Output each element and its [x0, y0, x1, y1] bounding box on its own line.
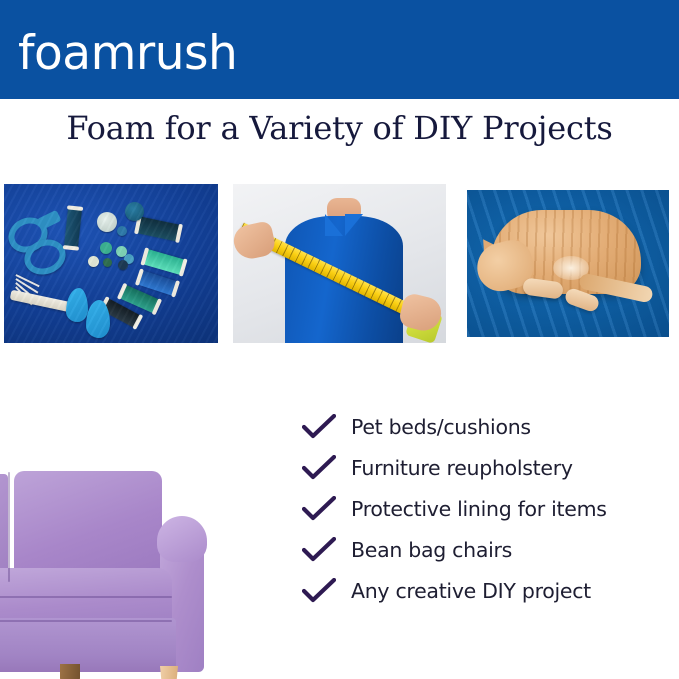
sofa-illustration: [0, 450, 254, 679]
benefit-item: Bean bag chairs: [302, 529, 672, 570]
page-title: Foam for a Variety of DIY Projects: [0, 105, 679, 151]
button: [125, 202, 144, 221]
person-hand-left: [233, 220, 277, 262]
scissors-ring-icon: [19, 234, 70, 280]
button-large: [97, 212, 117, 232]
shirt-collar-right: [345, 214, 363, 236]
check-icon: [302, 578, 336, 604]
benefit-label: Bean bag chairs: [336, 537, 512, 563]
check-icon: [302, 496, 336, 522]
cat-on-cushion-photo: [461, 184, 675, 343]
button-small: [100, 242, 112, 254]
product-feature-infographic: foamrush Foam for a Variety of DIY Proje…: [0, 0, 679, 679]
button-small: [116, 246, 127, 257]
straight-pin: [16, 282, 35, 299]
photo-strip: [4, 184, 675, 343]
benefit-item: Protective lining for items: [302, 488, 672, 529]
sewing-supplies-photo: [4, 184, 218, 343]
tape-measure-photo: [233, 184, 447, 343]
button-small: [118, 260, 128, 270]
benefit-label: Furniture reupholstery: [336, 455, 573, 481]
check-icon: [302, 537, 336, 563]
zipper: [10, 290, 73, 313]
straight-pin: [16, 274, 40, 287]
sofa-back-cushion-main: [14, 471, 162, 583]
sofa-seam: [0, 620, 172, 622]
thread-spool: [136, 216, 181, 241]
straight-pin: [15, 286, 32, 305]
button-small: [124, 254, 134, 264]
brand-banner: foamrush: [0, 0, 679, 99]
button-small: [103, 258, 112, 267]
thread-spool: [137, 270, 178, 296]
sofa-leg-front: [160, 666, 178, 679]
sofa-arm-roll: [157, 516, 207, 562]
benefit-item: Furniture reupholstery: [302, 447, 672, 488]
benefit-item: Any creative DIY project: [302, 570, 672, 611]
straight-pin: [16, 278, 39, 293]
benefit-list: Pet beds/cushions Furniture reupholstery…: [302, 406, 672, 611]
benefit-label: Protective lining for items: [336, 496, 607, 522]
thread-spool: [119, 284, 160, 313]
sofa-seam: [8, 472, 10, 582]
sofa-base: [0, 618, 176, 672]
brand-logo: foamrush: [18, 26, 237, 82]
tailors-chalk: [66, 288, 88, 322]
scissors-ring-icon: [4, 211, 53, 258]
check-icon: [302, 414, 336, 440]
thread-spool: [101, 298, 141, 328]
scissors-blade-icon: [36, 210, 61, 230]
check-icon: [302, 455, 336, 481]
thread-spool: [143, 249, 186, 275]
tailors-chalk: [86, 300, 110, 338]
thread-spool: [64, 207, 82, 248]
button-small: [88, 256, 99, 267]
sofa-leg-back: [60, 664, 80, 679]
benefit-label: Pet beds/cushions: [336, 414, 531, 440]
benefit-label: Any creative DIY project: [336, 578, 591, 604]
benefit-item: Pet beds/cushions: [302, 406, 672, 447]
shirt-collar-left: [325, 214, 343, 236]
button-small: [117, 226, 127, 236]
sofa-seam: [0, 596, 172, 598]
